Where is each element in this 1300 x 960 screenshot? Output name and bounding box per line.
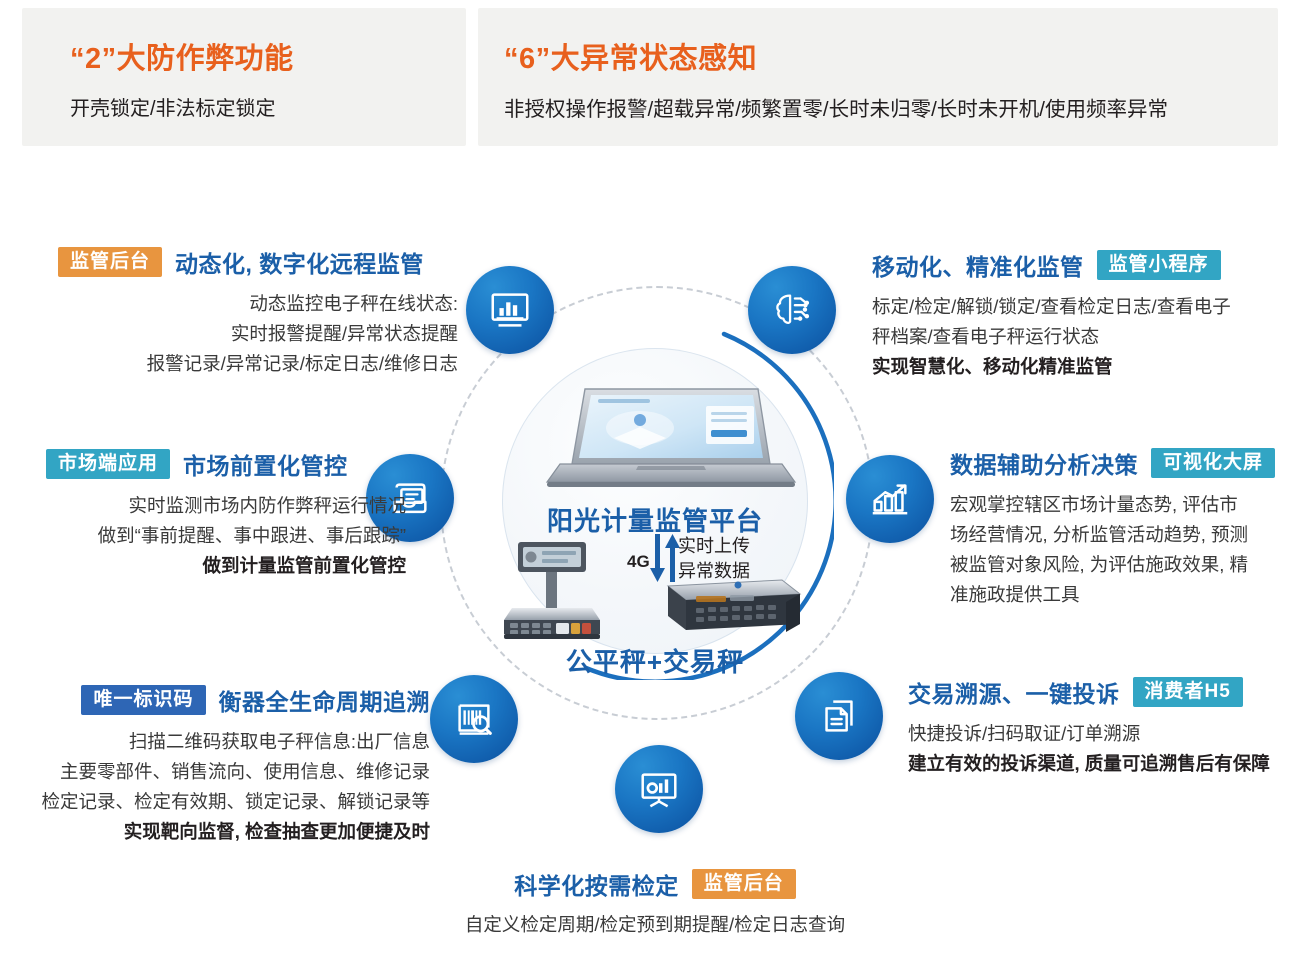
body-line: 做到“事前提醒、事中跟进、事后跟踪”	[46, 521, 406, 551]
body-line-emphasis: 做到计量监管前置化管控	[46, 551, 406, 581]
anomaly-sense-subtitle: 非授权操作报警/超载异常/频繁置零/长时未归零/长时未开机/使用频率异常	[504, 92, 1168, 122]
body-line: 标定/检定/解锁/锁定/查看检定日志/查看电子	[872, 292, 1292, 322]
body-line: 秤档案/查看电子秤运行状态	[872, 322, 1292, 352]
block-header: 市场端应用 市场前置化管控	[46, 447, 406, 481]
barcode-search-icon	[451, 696, 497, 742]
block-header: 数据辅助分析决策 可视化大屏	[950, 446, 1295, 480]
block-body: 实时监测市场内防作弊秤运行情况 做到“事前提醒、事中跟进、事后跟踪” 做到计量监…	[46, 491, 406, 581]
block-bottom-right: 交易溯源、一键投诉 消费者H5 快捷投诉/扫码取证/订单溯源 建立有效的投诉渠道…	[908, 675, 1288, 779]
anomaly-sense-title: “6”大异常状态感知	[504, 35, 757, 77]
documents-copy-icon	[816, 693, 862, 739]
body-line: 动态监控电子秤在线状态:	[58, 289, 458, 319]
block-title: 交易溯源、一键投诉	[908, 675, 1120, 709]
block-middle-left: 市场端应用 市场前置化管控 实时监测市场内防作弊秤运行情况 做到“事前提醒、事中…	[46, 447, 406, 581]
bubble-documents-copy[interactable]	[795, 672, 883, 760]
body-line: 准施政提供工具	[950, 580, 1295, 610]
body-line-emphasis: 实现靶向监督, 检查抽查更加便捷及时	[40, 817, 430, 847]
block-header: 交易溯源、一键投诉 消费者H5	[908, 675, 1288, 709]
ai-brain-icon	[769, 287, 815, 333]
block-title: 动态化, 数字化远程监管	[175, 245, 424, 279]
body-line: 场经营情况, 分析监管活动趋势, 预测	[950, 520, 1295, 550]
laptop-illustration	[490, 386, 820, 498]
uplink-line-1: 实时上传	[678, 534, 750, 559]
body-line: 实时监测市场内防作弊秤运行情况	[46, 491, 406, 521]
bubble-presentation-chart[interactable]	[615, 745, 703, 833]
block-middle-right: 数据辅助分析决策 可视化大屏 宏观掌控辖区市场计量态势, 评估市 场经营情况, …	[950, 446, 1295, 610]
block-title: 衡器全生命周期追溯	[219, 683, 431, 717]
block-header: 唯一标识码 衡器全生命周期追溯	[40, 683, 430, 717]
body-line: 扫描二维码获取电子秤信息:出厂信息	[40, 727, 430, 757]
anti-cheat-title: “2”大防作弊功能	[70, 35, 294, 77]
block-body: 宏观掌控辖区市场计量态势, 评估市 场经营情况, 分析监管活动趋势, 预测 被监…	[950, 490, 1295, 610]
badge-consumer-h5: 消费者H5	[1133, 677, 1243, 707]
network-type-label: 4G	[627, 552, 650, 572]
body-line-emphasis: 实现智慧化、移动化精准监管	[872, 352, 1292, 382]
block-body: 快捷投诉/扫码取证/订单溯源 建立有效的投诉渠道, 质量可追溯售后有保障	[908, 719, 1288, 779]
central-diagram: 阳光计量监管平台	[390, 246, 920, 856]
body-line: 被监管对象风险, 为评估施政效果, 精	[950, 550, 1295, 580]
block-title: 科学化按需检定	[514, 867, 679, 901]
badge-supervision-miniprogram: 监管小程序	[1097, 250, 1221, 280]
body-line: 宏观掌控辖区市场计量态势, 评估市	[950, 490, 1295, 520]
bubble-monitor-chart[interactable]	[466, 266, 554, 354]
block-title: 数据辅助分析决策	[950, 446, 1138, 480]
bubble-ai-brain[interactable]	[748, 266, 836, 354]
bubble-barcode-search[interactable]	[430, 675, 518, 763]
block-title: 移动化、精准化监管	[872, 248, 1084, 282]
block-body: 标定/检定/解锁/锁定/查看检定日志/查看电子 秤档案/查看电子秤运行状态 实现…	[872, 292, 1292, 382]
block-header: 移动化、精准化监管 监管小程序	[872, 248, 1292, 282]
block-bottom-left: 唯一标识码 衡器全生命周期追溯 扫描二维码获取电子秤信息:出厂信息 主要零部件、…	[40, 683, 430, 847]
monitor-chart-icon	[487, 287, 533, 333]
uplink-description: 实时上传 异常数据	[678, 534, 750, 584]
block-body: 自定义检定周期/检定预到期提醒/检定日志查询	[420, 910, 890, 940]
badge-supervision-backend-2: 监管后台	[692, 869, 796, 899]
presentation-chart-icon	[636, 766, 682, 812]
badge-visual-dashboard: 可视化大屏	[1151, 448, 1275, 478]
badge-supervision-backend: 监管后台	[58, 247, 162, 277]
badge-unique-id-code: 唯一标识码	[81, 685, 205, 715]
badge-market-application: 市场端应用	[46, 449, 170, 479]
block-bottom-center: 科学化按需检定 监管后台 自定义检定周期/检定预到期提醒/检定日志查询	[420, 867, 890, 940]
block-title: 市场前置化管控	[183, 447, 348, 481]
body-line: 自定义检定周期/检定预到期提醒/检定日志查询	[420, 910, 890, 940]
anomaly-sense-header-panel: “6”大异常状态感知 非授权操作报警/超载异常/频繁置零/长时未归零/长时未开机…	[478, 8, 1278, 146]
block-body: 扫描二维码获取电子秤信息:出厂信息 主要零部件、销售流向、使用信息、维修记录 检…	[40, 727, 430, 847]
body-line: 检定记录、检定有效期、锁定记录、解锁记录等	[40, 787, 430, 817]
body-line: 快捷投诉/扫码取证/订单溯源	[908, 719, 1288, 749]
body-line-emphasis: 建立有效的投诉渠道, 质量可追溯售后有保障	[908, 749, 1288, 779]
block-header: 科学化按需检定 监管后台	[420, 867, 890, 901]
bidirectional-arrow-icon	[648, 532, 682, 584]
growth-bar-chart-icon	[867, 476, 913, 522]
block-top-left: 监管后台 动态化, 数字化远程监管 动态监控电子秤在线状态: 实时报警提醒/异常…	[58, 245, 458, 379]
body-line: 实时报警提醒/异常状态提醒	[58, 319, 458, 349]
anti-cheat-header-panel: “2”大防作弊功能 开壳锁定/非法标定锁定	[22, 8, 466, 146]
anti-cheat-subtitle: 开壳锁定/非法标定锁定	[70, 92, 276, 121]
block-top-right: 移动化、精准化监管 监管小程序 标定/检定/解锁/锁定/查看检定日志/查看电子 …	[872, 248, 1292, 382]
block-header: 监管后台 动态化, 数字化远程监管	[58, 245, 458, 279]
body-line: 主要零部件、销售流向、使用信息、维修记录	[40, 757, 430, 787]
bubble-growth-chart[interactable]	[846, 455, 934, 543]
body-line: 报警记录/异常记录/标定日志/维修日志	[58, 349, 458, 379]
block-body: 动态监控电子秤在线状态: 实时报警提醒/异常状态提醒 报警记录/异常记录/标定日…	[58, 289, 458, 379]
uplink-line-2: 异常数据	[678, 559, 750, 584]
